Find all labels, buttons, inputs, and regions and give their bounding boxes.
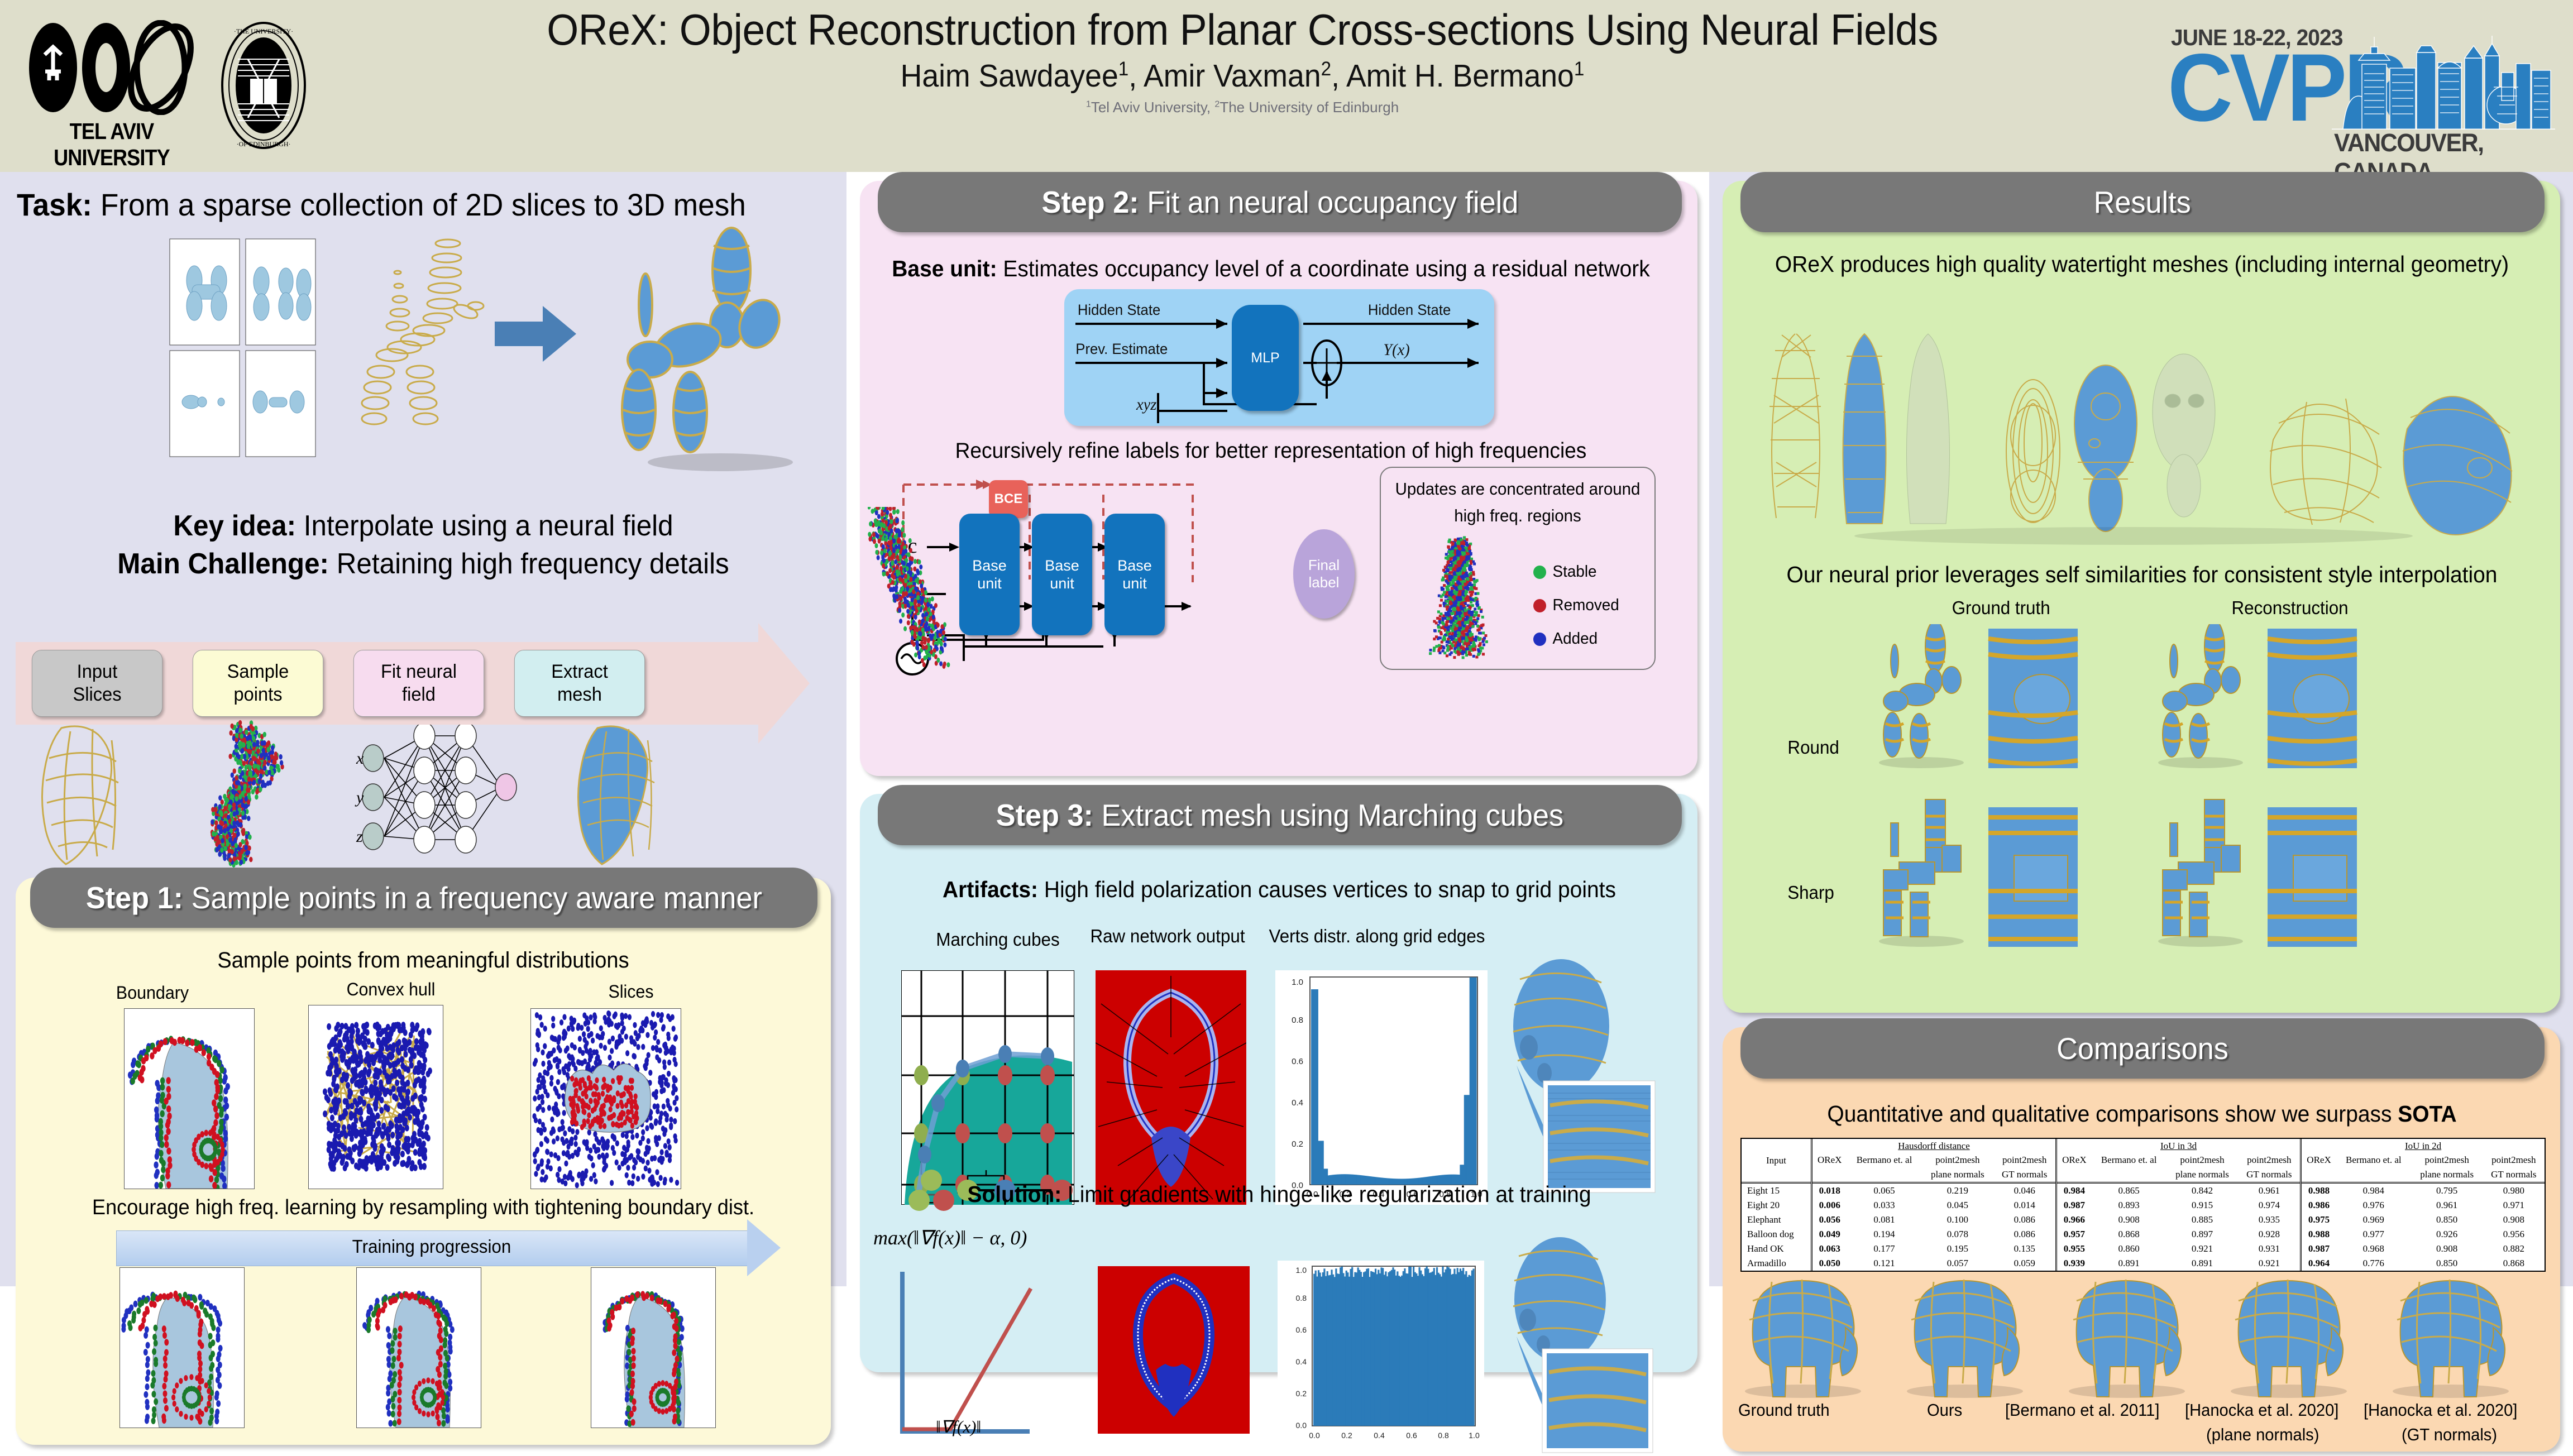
table-cell: 0.961 <box>2411 1198 2483 1213</box>
title-block: OReX: Object Reconstruction from Planar … <box>335 6 2150 116</box>
author-list: Haim Sawdayee1, Amir Vaxman2, Amit H. Be… <box>390 58 2096 94</box>
table-cell: 0.006 <box>1811 1198 1847 1213</box>
task-heading: Task: From a sparse collection of 2D sli… <box>17 186 791 223</box>
table-cell: 0.135 <box>1993 1242 2056 1256</box>
table-cell: 0.086 <box>1993 1213 2056 1227</box>
updates-callout-text: Updates are concentrated around high fre… <box>1388 476 1648 529</box>
elephant-comparison-gallery <box>1736 1266 2546 1400</box>
cmp-caption-hanocka-gt: [Hanocka et al. 2020] <box>2364 1400 2517 1420</box>
table-cell: 0.976 <box>2336 1198 2411 1213</box>
comparisons-line-1: Quantitative and qualitative comparisons… <box>1742 1101 2543 1127</box>
edinburgh-university-logo: ·THE UNIVERSITY· ·OF EDINBURGH· <box>213 20 314 151</box>
solution-label: Solution: <box>967 1181 1061 1207</box>
logo-group: TEL AVIV UNIVERSITY ·THE UNIVERSITY· ·OF… <box>22 10 318 161</box>
table-cell: 0.865 <box>2092 1183 2167 1199</box>
table-cell: 0.795 <box>2411 1183 2483 1199</box>
cmp-caption-bermano: [Bermano et al. 2011] <box>2005 1400 2159 1420</box>
table-cell: 0.956 <box>2483 1227 2545 1242</box>
artifact-mesh-thumb <box>1494 954 1662 1199</box>
table-cell: 0.984 <box>2057 1183 2092 1199</box>
pipeline-arrow: InputSlices Samplepoints Fit neuralfield… <box>16 642 809 725</box>
th-p2m-plane-2: point2mesh <box>2167 1153 2239 1167</box>
table-cell: 0.086 <box>1993 1227 2056 1242</box>
table-body: Eight 150.0180.0650.2190.0460.9840.8650.… <box>1742 1183 2545 1271</box>
base-unit-text: Estimates occupancy level of a coordinat… <box>997 256 1650 281</box>
input-slices-illustration <box>168 237 335 460</box>
solution-text: Limit gradients with hinge-like regulari… <box>1061 1181 1591 1207</box>
table-cell: 0.969 <box>2336 1213 2411 1227</box>
th-bermano-2: Bermano et. al <box>2092 1153 2167 1167</box>
step3-title-bar: Step 3: Extract mesh using Marching cube… <box>878 785 1682 845</box>
step3-label-marching-cubes: Marching cubes <box>910 929 1085 950</box>
table-cell: 0.897 <box>2167 1227 2239 1242</box>
cmp-caption-ground-truth: Ground truth <box>1738 1400 1830 1420</box>
table-cell: 0.014 <box>1993 1198 2056 1213</box>
convex-hull-sampling-thumb <box>308 1005 443 1189</box>
balloon-dog-wireframe <box>342 228 504 462</box>
svg-text:·THE UNIVERSITY·: ·THE UNIVERSITY· <box>234 27 293 35</box>
pipeline-step-input-slices[interactable]: InputSlices <box>32 650 162 717</box>
table-cell: 0.045 <box>1921 1198 1993 1213</box>
table-cell: 0.968 <box>2336 1242 2411 1256</box>
final-label-node: Finallabel <box>1293 529 1355 619</box>
table-group-iou3d: IoU in 3d <box>2057 1139 2301 1153</box>
cmp-caption-gt-normals: (GT normals) <box>2402 1425 2497 1445</box>
bce-loss-badge: BCE <box>989 480 1028 518</box>
key-idea-text: Interpolate using a neural field <box>296 510 673 542</box>
step3-label-raw-output: Raw network output <box>1080 926 1255 947</box>
mlp-input-y: y <box>355 788 364 807</box>
table-cell: 0.961 <box>2238 1183 2301 1199</box>
th-gt-normals-2: GT normals <box>2238 1167 2301 1183</box>
table-cell: 0.980 <box>2483 1183 2545 1199</box>
legend-dot-stable <box>1533 566 1546 579</box>
training-progression-head <box>747 1219 781 1276</box>
th-p2m-gt-1: point2mesh <box>1993 1153 2056 1167</box>
step2-title-bar: Step 2: Fit an neural occupancy field <box>878 172 1682 232</box>
base-unit-block-1[interactable]: Baseunit <box>959 514 1020 635</box>
base-unit-block-3[interactable]: Baseunit <box>1104 514 1165 635</box>
table-cell: 0.977 <box>2336 1227 2411 1242</box>
progression-thumb-1 <box>119 1267 245 1428</box>
comparisons-sota: SOTA <box>2398 1101 2456 1127</box>
table-cell: 0.971 <box>2483 1198 2545 1213</box>
slices-sampling-thumb <box>530 1008 681 1189</box>
table-cell: 0.986 <box>2301 1198 2336 1213</box>
table-cell: 0.974 <box>2238 1198 2301 1213</box>
quantitative-results-table: Input Hausdorff distance IoU in 3d IoU i… <box>1740 1138 2546 1272</box>
pipeline-label-3: Extractmesh <box>551 660 608 707</box>
column-method: Step 2: Fit an neural occupancy field Ba… <box>846 172 1709 1286</box>
table-cell: 0.885 <box>2167 1213 2239 1227</box>
tau-glyphs <box>22 20 201 115</box>
legend-dot-added <box>1533 633 1546 646</box>
results-line-2: Our neural prior leverages self similari… <box>1742 562 2543 588</box>
table-cell: 0.908 <box>2483 1213 2545 1227</box>
step2-title: Step 2: Fit an neural occupancy field <box>1041 184 1518 220</box>
th-p2m-gt-2: point2mesh <box>2238 1153 2301 1167</box>
heart-wireframe-thumb <box>22 719 162 870</box>
legend-label-stable: Stable <box>1553 563 1597 581</box>
table-group-header-row: Input Hausdorff distance IoU in 3d IoU i… <box>1742 1139 2545 1153</box>
tel-aviv-university-logo: TEL AVIV UNIVERSITY <box>22 20 201 151</box>
legend-item-added: Added <box>1533 630 1598 648</box>
table-cell: 0.984 <box>2336 1183 2411 1199</box>
key-idea-line: Key idea: Interpolate using a neural fie… <box>21 509 825 543</box>
table-cell: 0.893 <box>2092 1198 2167 1213</box>
table-cell: 0.908 <box>2411 1242 2483 1256</box>
table-row: Elephant0.0560.0810.1000.0860.9660.9080.… <box>1742 1213 2545 1227</box>
page-title: OReX: Object Reconstruction from Planar … <box>390 6 2096 54</box>
table-cell: 0.056 <box>1811 1213 1847 1227</box>
training-progression-label: Training progression <box>132 1236 731 1257</box>
step1-subtitle: Sample points from meaningful distributi… <box>21 948 825 973</box>
legend-item-stable: Stable <box>1533 563 1597 581</box>
table-cell: 0.081 <box>1847 1213 1922 1227</box>
challenge-text: Retaining high frequency details <box>329 548 729 580</box>
table-cell: 0.882 <box>2483 1242 2545 1256</box>
hinge-formula: max(‖∇f(x)‖ − α, 0) <box>873 1226 1027 1249</box>
table-cell: 0.063 <box>1811 1242 1847 1256</box>
task-text: From a sparse collection of 2D slices to… <box>92 187 746 222</box>
legend-label-removed: Removed <box>1553 596 1619 615</box>
table-cell: 0.219 <box>1921 1183 1993 1199</box>
table-cell: 0.177 <box>1847 1242 1922 1256</box>
legend-item-removed: Removed <box>1533 596 1619 615</box>
th-orex-3: OReX <box>2301 1153 2336 1167</box>
cmp-caption-hanocka-plane: [Hanocka et al. 2020] <box>2185 1400 2338 1420</box>
base-unit-diagram: MLP Hidden State Hidden State Prev. Esti… <box>1064 289 1494 426</box>
table-cell: 0.915 <box>2167 1198 2239 1213</box>
tau-logo-text: TEL AVIV UNIVERSITY <box>33 118 190 171</box>
challenge-label: Main Challenge: <box>117 548 329 580</box>
uniform-distribution-histogram: 0.00.2 0.40.6 0.81.0 0.00.2 0.40.6 0.81.… <box>1278 1261 1484 1445</box>
table-cell: 0.928 <box>2238 1227 2301 1242</box>
prev-estimate-label: Prev. Estimate <box>1075 341 1168 358</box>
hinge-plot-axis-label: ‖∇f(x)‖ <box>936 1417 981 1437</box>
mlp-block: MLP <box>1232 305 1299 411</box>
main-challenge-line: Main Challenge: Retaining high frequency… <box>21 547 825 581</box>
updates-heart-thumb <box>1405 529 1511 663</box>
transform-arrow-icon <box>491 300 581 367</box>
table-cell: 0.926 <box>2411 1227 2483 1242</box>
table-cell: 0.194 <box>1847 1227 1922 1242</box>
progression-thumb-3 <box>591 1267 716 1428</box>
hidden-state-out-label: Hidden State <box>1368 301 1451 319</box>
table-cell: 0.065 <box>1847 1183 1922 1199</box>
cmp-caption-ours: Ours <box>1927 1400 1962 1420</box>
balloon-dog-mesh <box>581 226 815 471</box>
table-cell: 0.987 <box>2301 1242 2336 1256</box>
table-cell-input: Hand OK <box>1742 1242 1811 1256</box>
table-cell: 0.049 <box>1811 1227 1847 1242</box>
vancouver-skyline-icon <box>2332 33 2555 130</box>
table-cell-input: Eight 20 <box>1742 1198 1811 1213</box>
regularized-mesh-thumb <box>1493 1233 1661 1456</box>
table-cell: 0.935 <box>2238 1213 2301 1227</box>
th-plane-normals-1: plane normals <box>1921 1167 1993 1183</box>
table-cell: 0.046 <box>1993 1183 2056 1199</box>
table-row: Hand OK0.0630.1770.1950.1350.9550.8600.9… <box>1742 1242 2545 1256</box>
progression-thumb-2 <box>356 1267 481 1428</box>
table-cell-input: Eight 15 <box>1742 1183 1811 1199</box>
heart-mesh-thumb <box>558 719 698 870</box>
table-group-iou2d: IoU in 2d <box>2301 1139 2545 1153</box>
artifacts-label: Artifacts: <box>943 877 1038 902</box>
step1-thumb-label-convexhull: Convex hull <box>295 979 486 1000</box>
table-header-input: Input <box>1742 1139 1811 1183</box>
base-unit-block-2[interactable]: Baseunit <box>1032 514 1092 635</box>
pipeline-arrow-head <box>758 623 810 744</box>
legend-dot-removed <box>1533 599 1546 612</box>
table-cell: 0.957 <box>2057 1227 2092 1242</box>
results-row-label-round: Round <box>1787 737 1839 758</box>
column-results: Results OReX produces high quality water… <box>1709 172 2573 1286</box>
pipeline-step-sample-points[interactable]: Samplepoints <box>193 650 323 717</box>
poster-header: TEL AVIV UNIVERSITY ·THE UNIVERSITY· ·OF… <box>0 0 2573 172</box>
comparisons-title: Comparisons <box>2057 1031 2228 1066</box>
table-cell: 0.018 <box>1811 1183 1847 1199</box>
step1-thumb-label-boundary: Boundary <box>65 983 240 1003</box>
table-group-hausdorff: Hausdorff distance <box>1811 1139 2056 1153</box>
table-cell-input: Elephant <box>1742 1213 1811 1227</box>
th-plane-normals-2: plane normals <box>2167 1167 2239 1183</box>
results-col-label-reconstruction: Reconstruction <box>2232 597 2349 619</box>
table-subheader-row-1: OReXBermano et. al point2meshpoint2mesh … <box>1742 1153 2545 1167</box>
base-unit-label: Base unit: <box>892 256 997 281</box>
th-gt-normals-3: GT normals <box>2483 1167 2545 1183</box>
table-cell: 0.987 <box>2057 1198 2092 1213</box>
results-col-label-ground-truth: Ground truth <box>1952 597 2050 619</box>
table-cell: 0.931 <box>2238 1242 2301 1256</box>
step3-label-verts-distr: Verts distr. along grid edges <box>1266 926 1489 947</box>
table-cell: 0.908 <box>2092 1213 2167 1227</box>
results-title: Results <box>2094 184 2191 220</box>
step1-note: Encourage high freq. learning by resampl… <box>30 1196 817 1220</box>
pipeline-step-extract-mesh[interactable]: Extractmesh <box>514 650 645 717</box>
boundary-sampling-thumb <box>124 1008 255 1189</box>
th-bermano-3: Bermano et. al <box>2336 1153 2411 1167</box>
legend-label-added: Added <box>1553 630 1598 648</box>
style-interpolation-gallery <box>1849 624 2530 1009</box>
step1-thumb-label-slices: Slices <box>541 981 721 1002</box>
artifacts-text: High field polarization causes vertices … <box>1038 877 1616 902</box>
results-row-label-sharp: Sharp <box>1787 882 1834 903</box>
results-gallery <box>1743 284 2541 546</box>
table-row: Balloon dog0.0490.1940.0780.0860.9570.86… <box>1742 1227 2545 1242</box>
table-cell: 0.033 <box>1847 1198 1922 1213</box>
table-cell: 0.868 <box>2092 1227 2167 1242</box>
th-p2m-gt-3: point2mesh <box>2483 1153 2545 1167</box>
column-task: Task: From a sparse collection of 2D sli… <box>0 172 846 1286</box>
coords-label: xyz <box>1136 395 1156 414</box>
table-cell: 0.078 <box>1921 1227 1993 1242</box>
mlp-input-x: x <box>356 749 364 768</box>
th-p2m-plane-3: point2mesh <box>2411 1153 2483 1167</box>
table-cell: 0.850 <box>2411 1213 2483 1227</box>
table-cell: 0.975 <box>2301 1213 2336 1227</box>
table-cell: 0.842 <box>2167 1183 2239 1199</box>
poster-root: TEL AVIV UNIVERSITY ·THE UNIVERSITY· ·OF… <box>0 0 2573 1286</box>
hidden-state-in-label: Hidden State <box>1078 301 1160 319</box>
th-plane-normals-3: plane normals <box>2411 1167 2483 1183</box>
training-progression-arrow: Training progression <box>116 1230 781 1265</box>
verts-distribution-histogram: 0.00.2 0.40.6 0.81.0 0.00.2 0.40.6 0.81.… <box>1275 970 1488 1205</box>
table-cell: 0.966 <box>2057 1213 2092 1227</box>
pipeline-step-fit-neural-field[interactable]: Fit neuralfield <box>353 650 484 717</box>
table-cell: 0.195 <box>1921 1242 1993 1256</box>
cmp-caption-plane-normals: (plane normals) <box>2206 1425 2319 1445</box>
pipeline-label-0: InputSlices <box>73 660 121 707</box>
task-label: Task: <box>17 187 92 222</box>
th-orex-1: OReX <box>1811 1153 1847 1167</box>
affiliation-line: 1Tel Aviv University, 2The University of… <box>335 99 2150 116</box>
svg-text:·OF EDINBURGH·: ·OF EDINBURGH· <box>237 140 291 148</box>
point-cloud-input-thumb <box>868 507 957 674</box>
raw-network-output-thumb <box>1096 970 1246 1205</box>
table-cell: 0.100 <box>1921 1213 1993 1227</box>
step2-recursive-line: Recursively refine labels for better rep… <box>884 439 1658 463</box>
th-gt-normals-1: GT normals <box>1993 1167 2056 1183</box>
mlp-network-diagram: x y z <box>352 725 536 870</box>
step1-title-bar: Step 1: Sample points in a frequency awa… <box>30 868 817 928</box>
table-row: Eight 150.0180.0650.2190.0460.9840.8650.… <box>1742 1183 2545 1199</box>
table-cell-input: Balloon dog <box>1742 1227 1811 1242</box>
table-cell: 0.988 <box>2301 1227 2336 1242</box>
table-subheader-row-2: plane normalsGT normals plane normalsGT … <box>1742 1167 2545 1183</box>
output-label: Y(x) <box>1383 341 1409 360</box>
mlp-input-z: z <box>356 827 363 846</box>
th-p2m-plane-1: point2mesh <box>1921 1153 1993 1167</box>
table-row: Eight 200.0060.0330.0450.0140.9870.8930.… <box>1742 1198 2545 1213</box>
step3-title: Step 3: Extract mesh using Marching cube… <box>996 797 1563 833</box>
table-cell: 0.921 <box>2167 1242 2239 1256</box>
table-cell: 0.860 <box>2092 1242 2167 1256</box>
results-line-1: OReX produces high quality watertight me… <box>1742 251 2543 277</box>
step1-title: Step 1: Sample points in a frequency awa… <box>85 880 762 916</box>
pipeline-label-2: Fit neuralfield <box>381 660 457 707</box>
table-cell: 0.988 <box>2301 1183 2336 1199</box>
step3-artifacts-line: Artifacts: High field polarization cause… <box>884 877 1675 903</box>
th-orex-2: OReX <box>2057 1153 2092 1167</box>
pipeline-label-1: Samplepoints <box>227 660 289 707</box>
cvpr-logo: JUNE 18-22, 2023 CVPR <box>2167 12 2557 160</box>
results-title-bar: Results <box>1740 172 2545 232</box>
step2-base-unit-line: Base unit: Estimates occupancy level of … <box>889 256 1653 282</box>
comparisons-line-1a: Quantitative and qualitative comparisons… <box>1827 1101 2398 1127</box>
key-idea-label: Key idea: <box>173 510 296 542</box>
table-cell: 0.955 <box>2057 1242 2092 1256</box>
sampled-points-thumb <box>184 719 324 870</box>
th-bermano-1: Bermano et. al <box>1847 1153 1922 1167</box>
regularized-output-thumb <box>1098 1266 1250 1434</box>
step3-solution-line: Solution: Limit gradients with hinge-lik… <box>884 1181 1675 1208</box>
comparisons-title-bar: Comparisons <box>1740 1018 2545 1079</box>
